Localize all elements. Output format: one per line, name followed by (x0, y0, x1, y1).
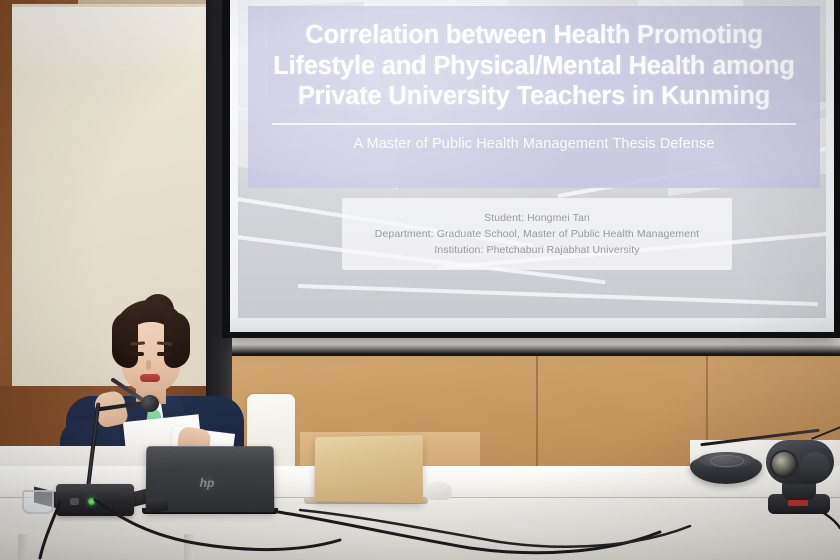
projection-screen-surface: Correlation between Health Promoting Lif… (230, 0, 834, 332)
slide-divider (272, 123, 796, 125)
presentation-room-scene: Correlation between Health Promoting Lif… (0, 0, 840, 560)
slide-student-line: Student: Hongmei Tan (484, 212, 590, 224)
ptz-camera-arm (800, 452, 830, 482)
slide-department-line: Department: Graduate School, Master of P… (375, 228, 699, 240)
presenter-nose (146, 360, 151, 370)
slide-institution-line: Institution: Phetchaburi Rajabhat Univer… (434, 244, 639, 256)
slide-subtitle: A Master of Public Health Management The… (353, 136, 714, 152)
presenter-eye-left (130, 352, 144, 356)
presenter-hair-front-right (164, 312, 190, 368)
projection-screen-frame: Correlation between Health Promoting Lif… (222, 0, 840, 338)
slide-title-line-2: Lifestyle and Physical/Mental Health amo… (256, 51, 812, 82)
speakerphone-ring (710, 455, 744, 467)
slide-title-banner: Correlation between Health Promoting Lif… (248, 6, 820, 188)
ptz-camera-brand-label (788, 500, 808, 506)
ptz-camera-lens-icon (770, 450, 798, 478)
wall-panel-sheen (12, 4, 214, 74)
presenter-eye-right (157, 352, 171, 356)
slide-info-card: Student: Hongmei Tan Department: Graduat… (342, 198, 732, 270)
slide-title-line-3: Private University Teachers in Kunming (256, 81, 812, 112)
microphone-capsule (141, 395, 159, 412)
slide-title-line-1: Correlation between Health Promoting (256, 20, 812, 51)
screen-bottom-bar (230, 318, 834, 332)
presenter-mouth (140, 374, 160, 382)
presenter-hair-front-left (112, 312, 138, 368)
